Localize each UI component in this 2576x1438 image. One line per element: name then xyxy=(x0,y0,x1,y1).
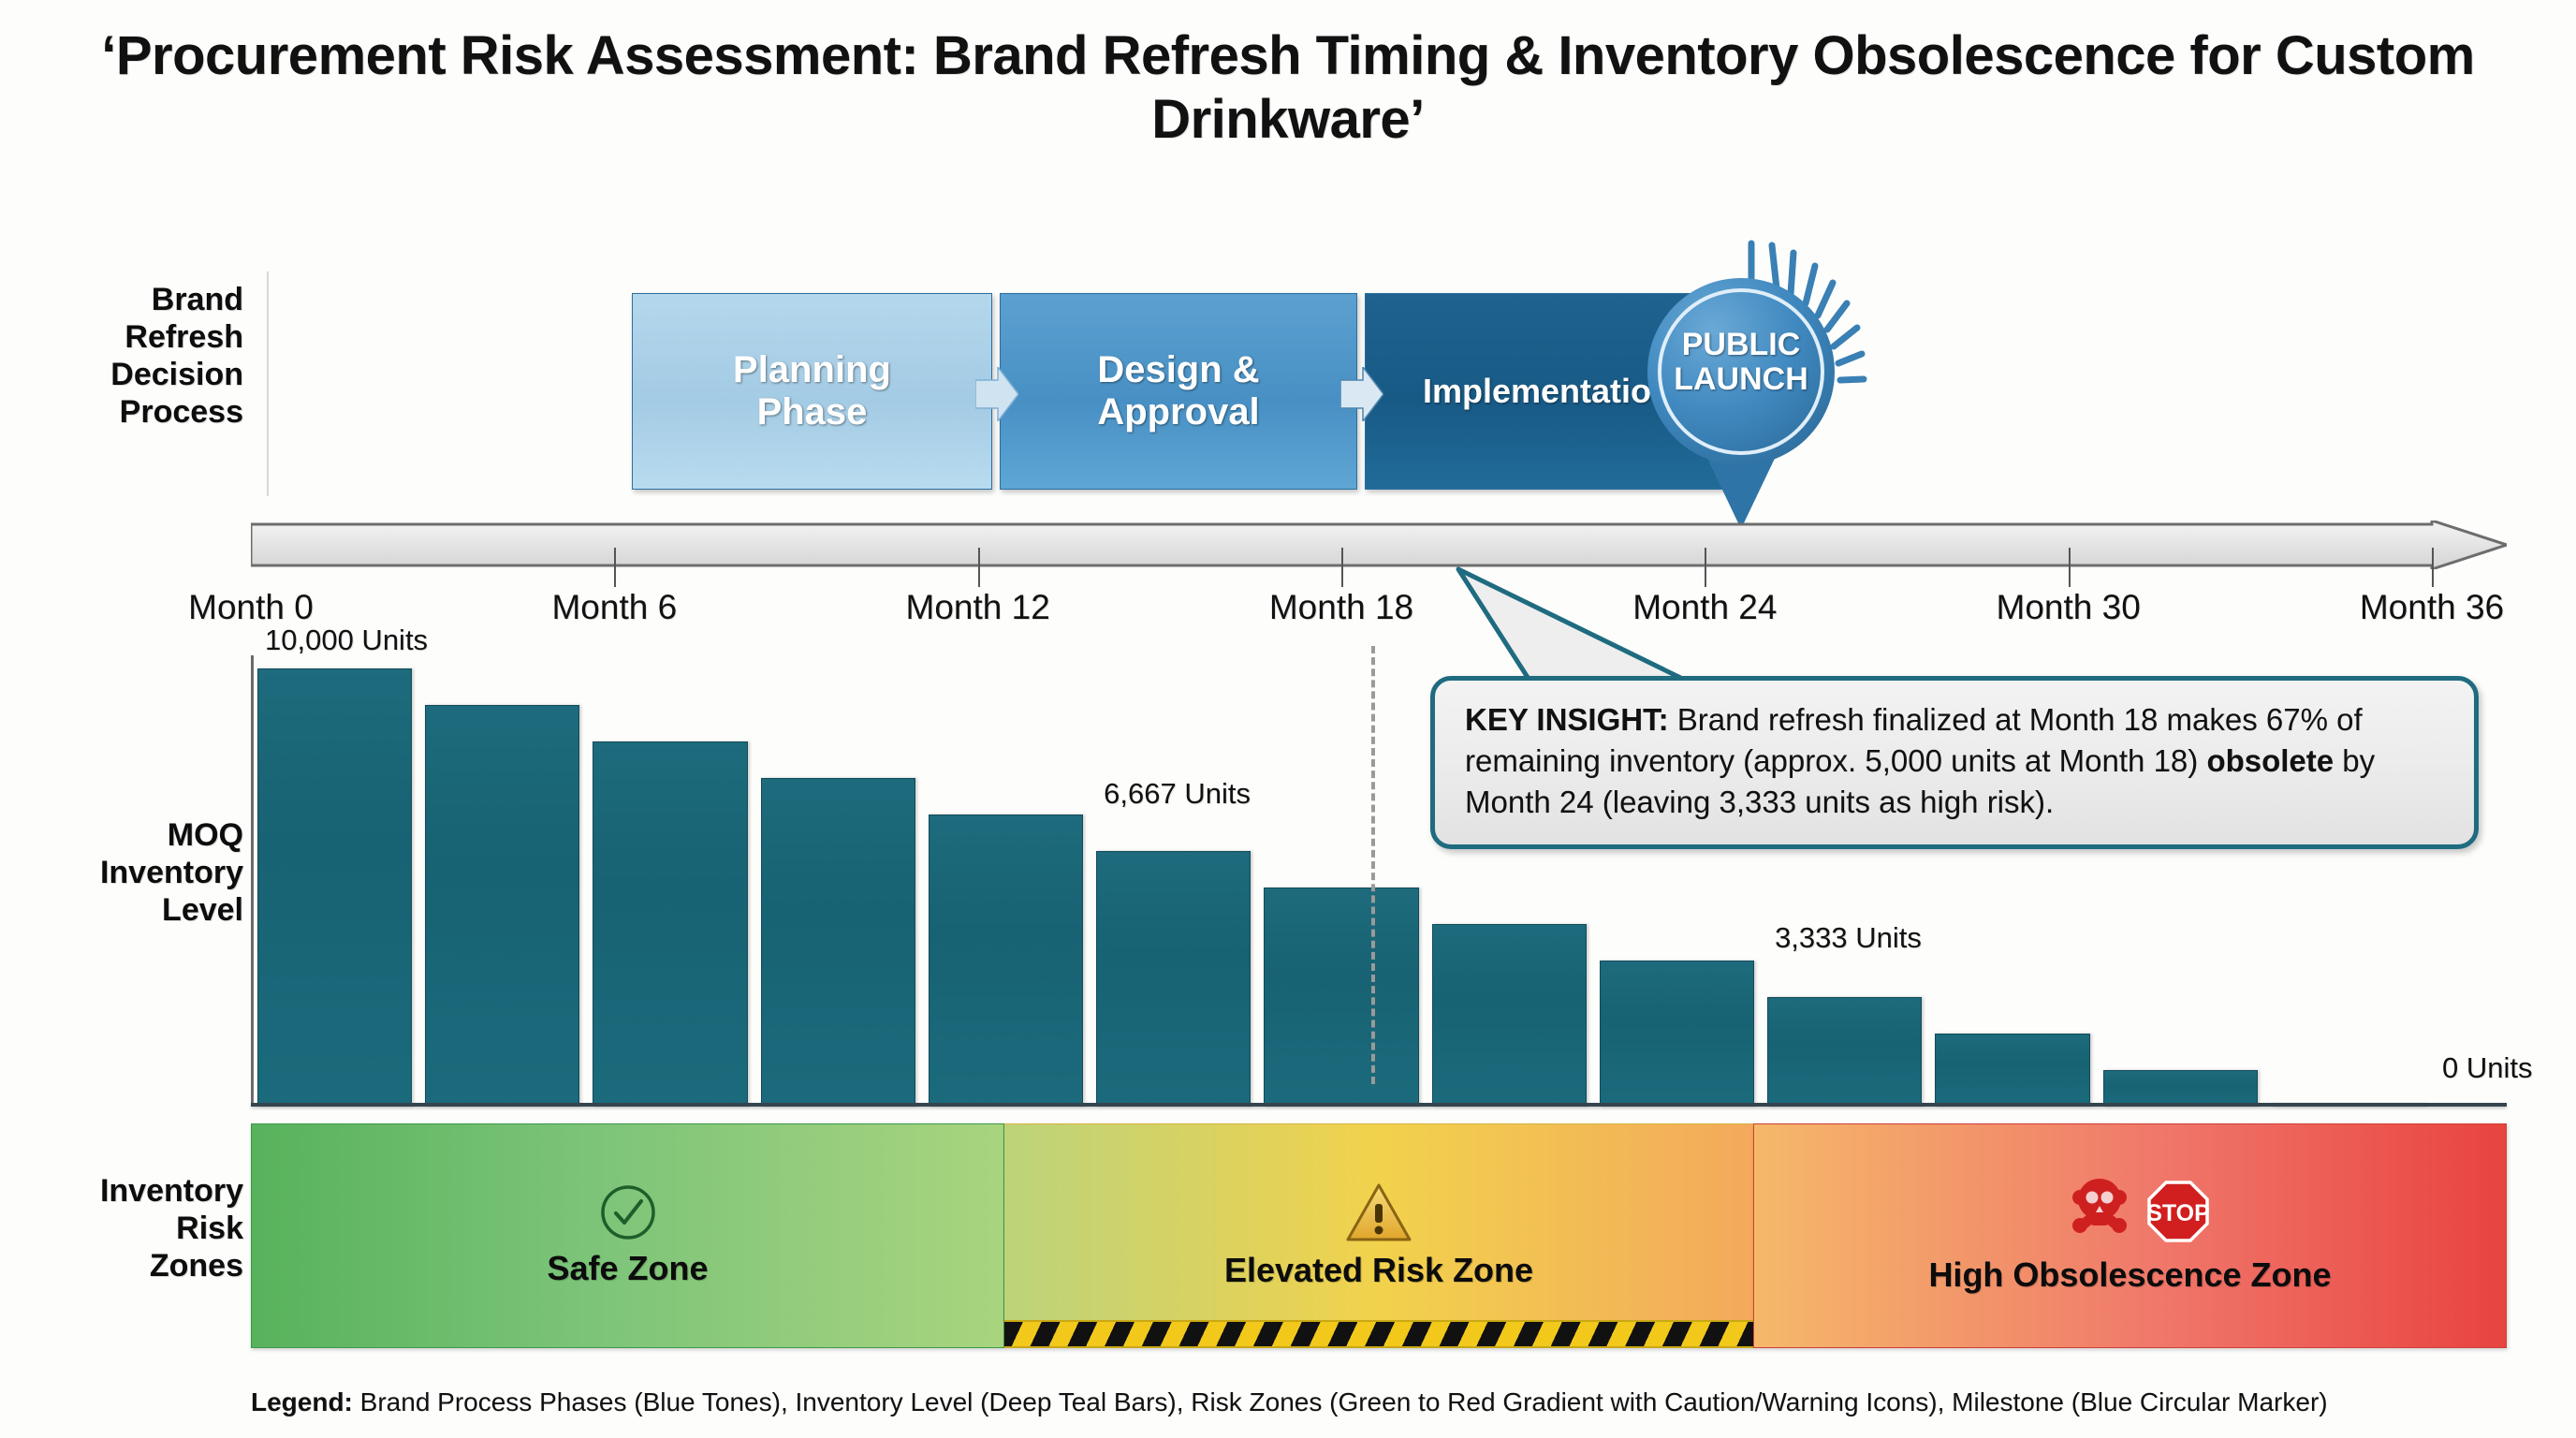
phase-arrow-1-icon xyxy=(975,367,1018,421)
stop-sign-icon: STOP xyxy=(2146,1182,2210,1240)
timeline-tick xyxy=(1705,548,1706,587)
risk-zone-elevated-label: Elevated Risk Zone xyxy=(1224,1251,1533,1290)
bar-value-label: 10,000 Units xyxy=(265,624,428,657)
inventory-bar xyxy=(257,668,412,1107)
inventory-bar xyxy=(1264,888,1418,1107)
inventory-bar xyxy=(1096,851,1251,1107)
timeline-axis xyxy=(251,521,2507,569)
phase-arrow-2-icon xyxy=(1340,367,1383,421)
key-insight-callout: KEY INSIGHT: Brand refresh finalized at … xyxy=(1430,676,2479,849)
phase-box-design-approval[interactable]: Design &Approval xyxy=(1000,293,1357,490)
bar-value-label: 3,333 Units xyxy=(1775,921,1922,955)
timeline-month-label: Month 0 xyxy=(129,588,373,627)
risk-zone-safe[interactable]: Safe Zone xyxy=(251,1123,1004,1348)
zone-icon-group: STOP xyxy=(2037,1177,2224,1248)
warning-triangle-icon xyxy=(1345,1181,1412,1243)
inventory-bar xyxy=(425,705,579,1107)
timeline-tick xyxy=(2432,548,2434,587)
timeline-month-label: Month 12 xyxy=(856,588,1100,627)
process-row-divider xyxy=(267,271,269,496)
check-circle-icon xyxy=(599,1183,657,1241)
bar-value-label: 6,667 Units xyxy=(1104,777,1251,811)
timeline-month-label: Month 36 xyxy=(2310,588,2554,627)
inventory-bar xyxy=(1600,961,1754,1107)
hazard-stripe-bottom xyxy=(1004,1320,1753,1348)
callout-emphasis: obsolete xyxy=(2206,743,2334,778)
svg-text:STOP: STOP xyxy=(2146,1200,2210,1226)
timeline-tick xyxy=(2069,548,2071,587)
bar-value-label: 0 Units xyxy=(2442,1051,2532,1085)
inventory-bar xyxy=(2103,1070,2258,1107)
timeline-month-label: Month 6 xyxy=(492,588,736,627)
row-label-process: BrandRefreshDecisionProcess xyxy=(9,281,243,431)
inventory-bar xyxy=(593,741,747,1107)
phase-box-planning[interactable]: PlanningPhase xyxy=(632,293,992,490)
inventory-bar xyxy=(929,814,1083,1107)
inventory-bar xyxy=(1432,924,1587,1107)
inventory-bar xyxy=(1935,1034,2089,1107)
timeline-tick xyxy=(1341,548,1343,587)
risk-zone-high-obsolescence[interactable]: STOP High Obsolescence Zone xyxy=(1753,1123,2507,1348)
row-label-inventory: MOQInventoryLevel xyxy=(9,816,243,929)
legend-prefix: Legend: xyxy=(251,1387,353,1416)
timeline-month-label: Month 30 xyxy=(1947,588,2190,627)
timeline-month-label: Month 18 xyxy=(1220,588,1463,627)
risk-zone-high-label: High Obsolescence Zone xyxy=(1928,1255,2331,1295)
legend: Legend: Brand Process Phases (Blue Tones… xyxy=(251,1387,2497,1417)
chart-x-axis xyxy=(251,1103,2507,1107)
timeline-tick xyxy=(978,548,980,587)
inventory-bar xyxy=(761,778,915,1107)
milestone-public-launch-marker[interactable] xyxy=(1633,225,1914,534)
timeline-month-label: Month 24 xyxy=(1583,588,1826,627)
inventory-bar xyxy=(1767,997,1922,1107)
timeline-tick xyxy=(614,548,616,587)
month-18-marker-line xyxy=(1371,646,1375,1084)
skull-crossbones-icon xyxy=(2072,1179,2127,1233)
row-label-risk-zones: InventoryRiskZones xyxy=(9,1172,243,1284)
risk-zone-elevated[interactable]: Elevated Risk Zone xyxy=(1004,1123,1753,1348)
page-title: ‘Procurement Risk Assessment: Brand Refr… xyxy=(0,24,2576,153)
legend-text: Brand Process Phases (Blue Tones), Inven… xyxy=(353,1387,2328,1416)
risk-zone-safe-label: Safe Zone xyxy=(547,1249,708,1288)
callout-prefix: KEY INSIGHT: xyxy=(1465,702,1669,737)
